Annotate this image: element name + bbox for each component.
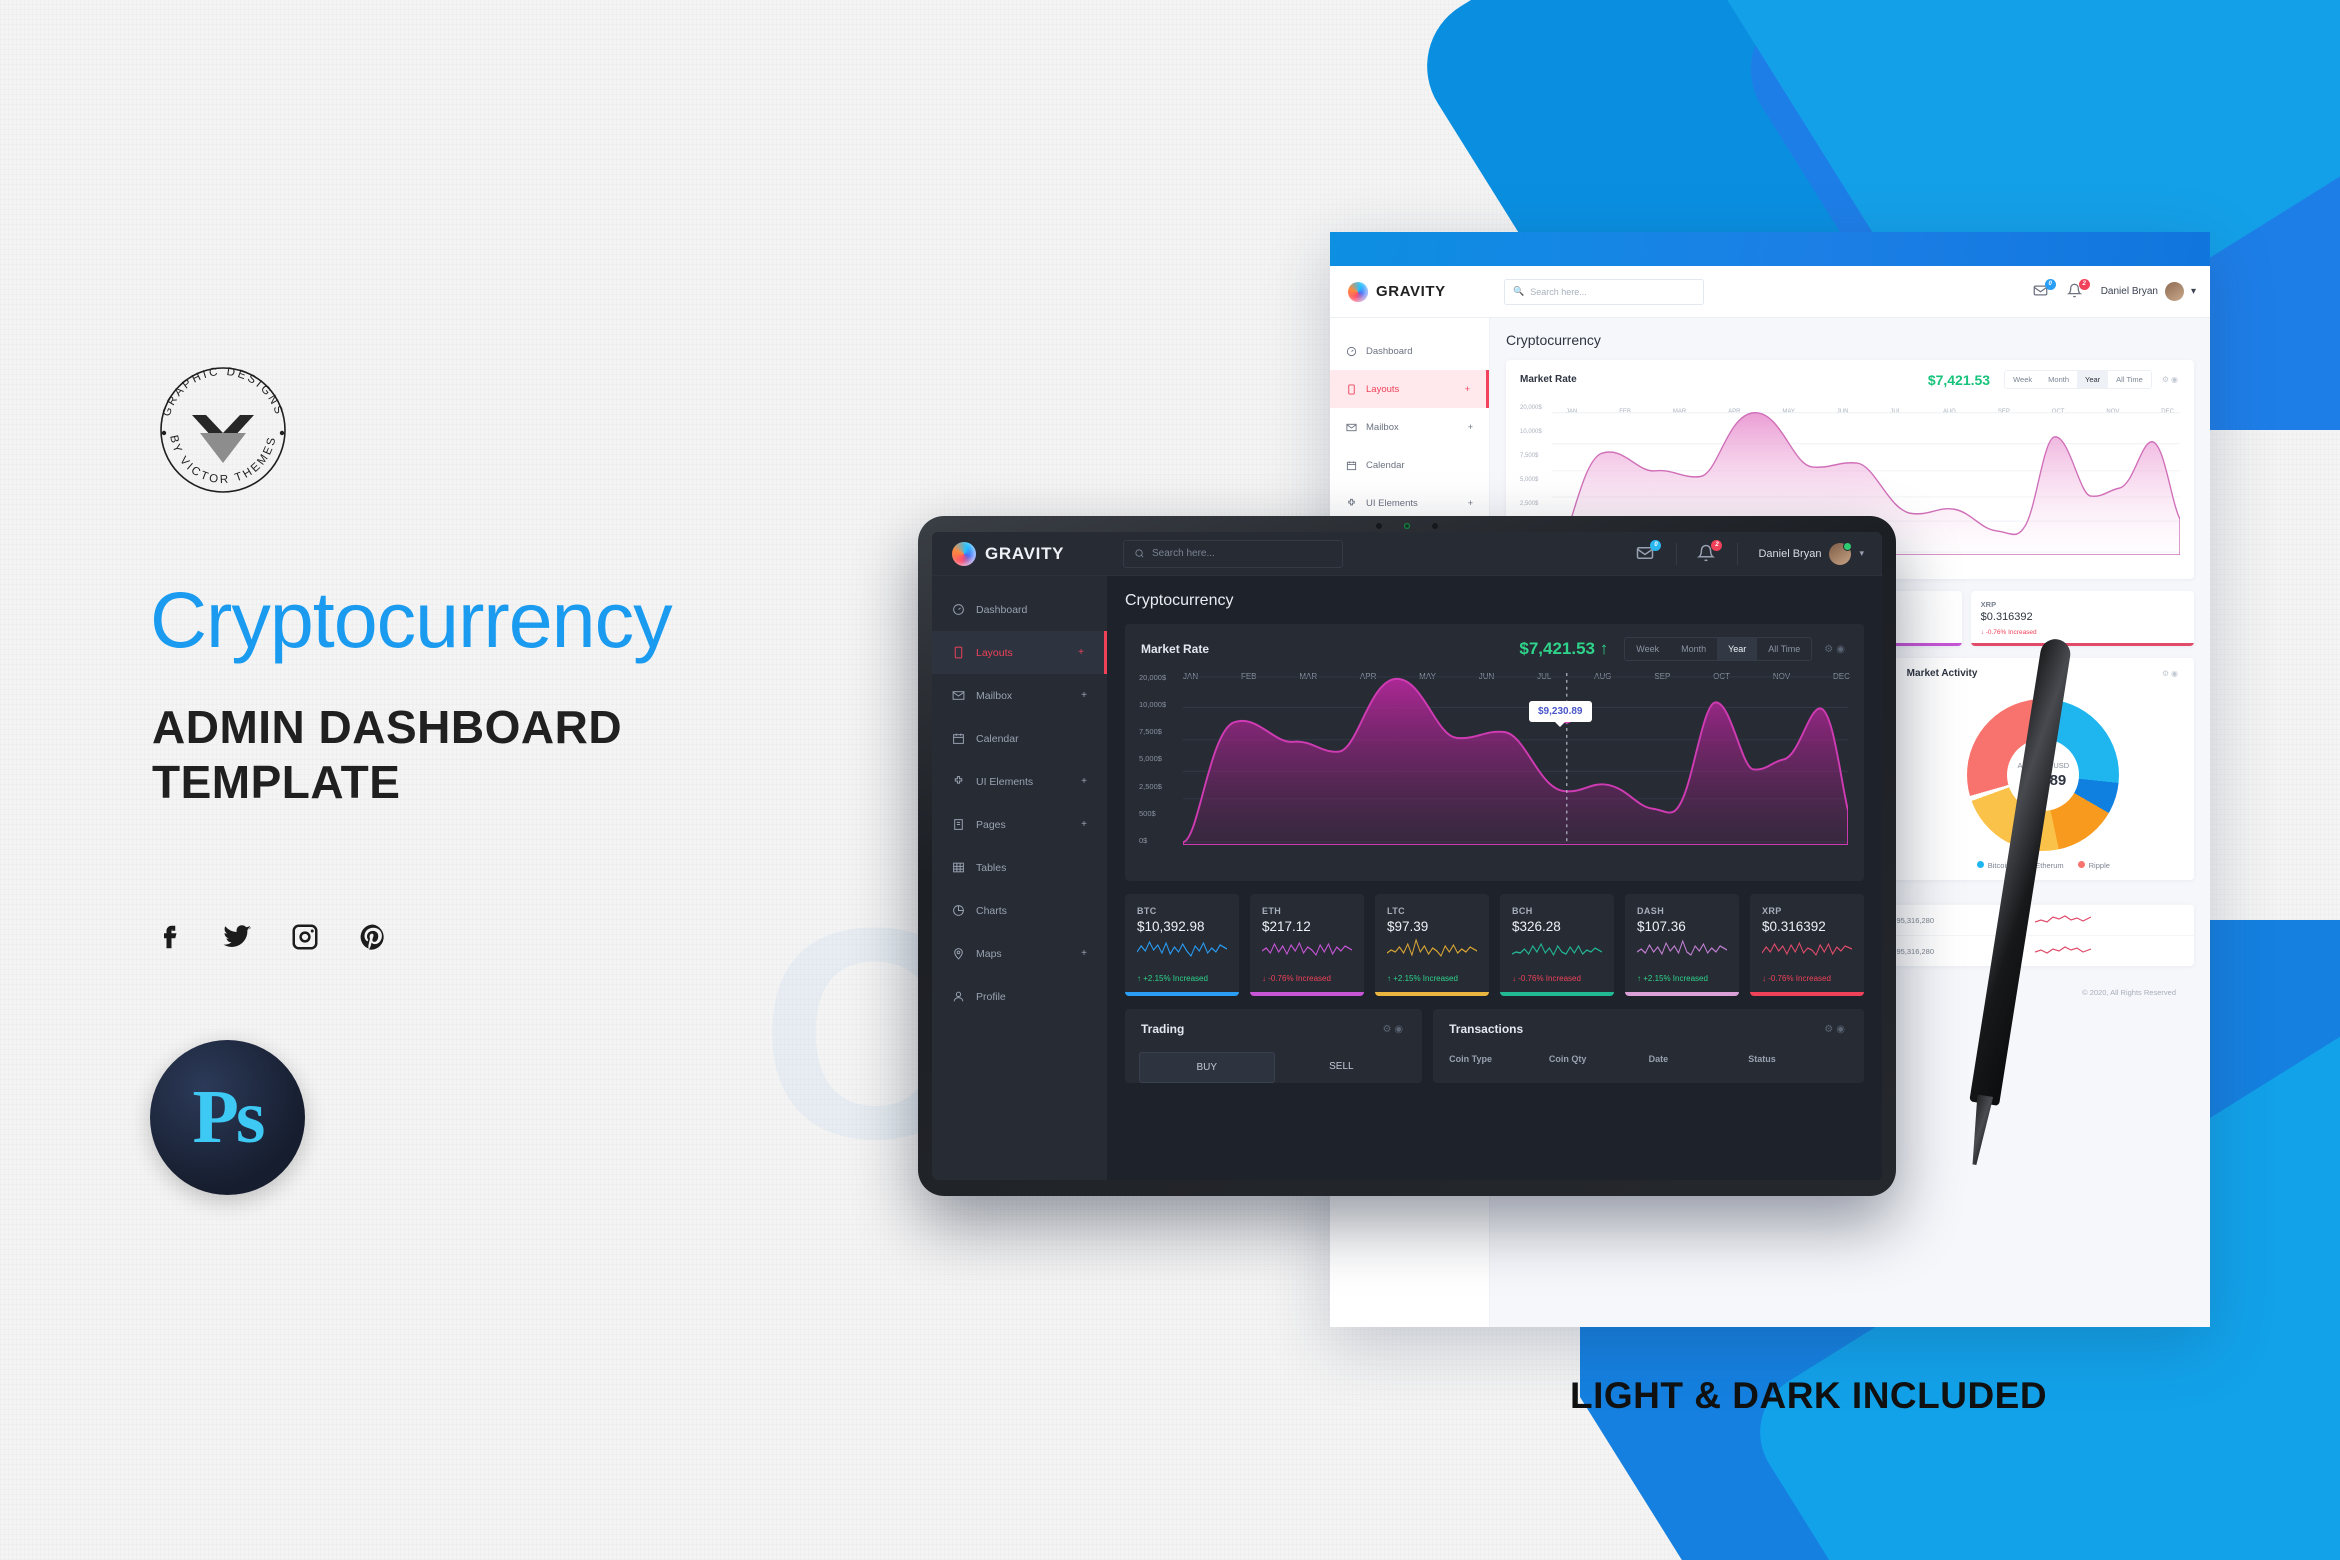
sidebar-item-label: Maps: [976, 948, 1002, 960]
expand-icon: +: [1081, 948, 1087, 959]
sidebar-item-tables[interactable]: Tables: [932, 846, 1107, 889]
coin-change: ↓ -0.76% Increased: [1762, 974, 1852, 983]
card-actions-icon[interactable]: ⚙◉: [1382, 1024, 1406, 1035]
cell-sparkline: [2025, 936, 2194, 967]
coin-accent-bar: [1971, 643, 2194, 646]
sell-tab[interactable]: SELL: [1275, 1052, 1409, 1083]
transactions-card: Transactions ⚙◉ Coin Type Coin Qty Date …: [1433, 1009, 1864, 1083]
brand-label: GRAVITY: [1376, 283, 1446, 300]
y-tick: 2,500$: [1520, 501, 1542, 507]
instagram-icon[interactable]: [288, 920, 322, 954]
sidebar-item-dashboard[interactable]: Dashboard: [1330, 332, 1489, 370]
coin-symbol: XRP: [1762, 906, 1852, 916]
coin-sparkline: [1137, 934, 1227, 960]
coin-cards: BTC $10,392.98 ↑ +2.15% Increased ETH $2…: [1125, 894, 1864, 996]
y-tick: 0$: [1139, 836, 1166, 845]
y-tick: 5,000$: [1139, 754, 1166, 763]
coin-price: $107.36: [1637, 919, 1727, 934]
coin-price: $97.39: [1387, 919, 1477, 934]
coin-sparkline: [1762, 934, 1852, 960]
bell-badge: 2: [2079, 279, 2090, 290]
dark-area-series: [1183, 673, 1848, 845]
sidebar-item-ui-elements[interactable]: UI Elements +: [932, 760, 1107, 803]
dark-user-zone: 0 2 Daniel Bryan ▾: [1636, 543, 1882, 565]
coin-sparkline: [1512, 934, 1602, 960]
coin-card-bch[interactable]: BCH $326.28 ↓ -0.76% Increased: [1500, 894, 1614, 996]
sidebar-item-maps[interactable]: Maps +: [932, 932, 1107, 975]
transactions-title: Transactions: [1449, 1022, 1523, 1036]
transactions-header: Transactions ⚙◉: [1433, 1009, 1864, 1044]
tablet-camera-row: [918, 523, 1896, 529]
coin-card-ltc[interactable]: LTC $97.39 ↑ +2.15% Increased: [1375, 894, 1489, 996]
subtitle-line-2: TEMPLATE: [152, 755, 622, 810]
y-tick: 2,500$: [1139, 782, 1166, 791]
subtitle-line-1: ADMIN DASHBOARD: [152, 700, 622, 755]
light-market-value: $7,421.53: [1928, 372, 1990, 388]
y-tick: 20,000$: [1520, 405, 1542, 411]
activity-title: Market Activity: [1907, 668, 1978, 679]
gravity-logo-icon: [952, 542, 976, 566]
mail-icon[interactable]: 0: [1636, 544, 1656, 564]
expand-icon: +: [1081, 690, 1087, 701]
buy-tab[interactable]: BUY: [1139, 1052, 1275, 1083]
col-date: Date: [1649, 1054, 1749, 1064]
dark-dashboard: GRAVITY Search here... 0 2 Daniel Bryan: [932, 532, 1882, 1180]
dark-sidebar: Dashboard Layouts + Mailbox + Calendar U…: [932, 576, 1107, 1180]
bell-badge: 2: [1711, 540, 1722, 551]
coin-change: ↓ -0.76% Increased: [1262, 974, 1352, 983]
page-title: Cryptocurrency: [150, 580, 672, 659]
sidebar-item-charts[interactable]: Charts: [932, 889, 1107, 932]
coin-change: ↓ -0.76% Increased: [1512, 974, 1602, 983]
tablet-device: GRAVITY Search here... 0 2 Daniel Bryan: [918, 516, 1896, 1196]
coin-accent-bar: [1500, 992, 1614, 996]
sidebar-item-label: Profile: [976, 991, 1006, 1003]
range-tabs: Week Month Year All Time: [1624, 637, 1812, 661]
range-all-time[interactable]: All Time: [2108, 371, 2151, 388]
coin-sparkline: [1637, 934, 1727, 960]
range-month[interactable]: Month: [2040, 371, 2077, 388]
expand-icon: +: [1081, 819, 1087, 830]
sidebar-item-mailbox[interactable]: Mailbox +: [932, 674, 1107, 717]
coin-accent-bar: [1375, 992, 1489, 996]
sidebar-item-label: Pages: [976, 819, 1006, 831]
sidebar-item-label: Layouts: [976, 647, 1013, 659]
trend-up-icon: ↑: [1600, 639, 1609, 658]
coin-symbol: XRP: [1981, 600, 2184, 609]
coin-sparkline: [1262, 934, 1352, 960]
mail-badge: 0: [2045, 279, 2056, 290]
buy-sell-tabs: BUY SELL: [1139, 1052, 1408, 1083]
sidebar-item-pages[interactable]: Pages +: [932, 803, 1107, 846]
gravity-logo-icon: [1348, 282, 1368, 302]
social-links: [152, 920, 390, 954]
y-tick: 10,000$: [1520, 429, 1542, 435]
light-search-input[interactable]: 🔍 Search here...: [1504, 279, 1704, 305]
coin-price: $0.316392: [1981, 611, 2184, 623]
chevron-down-icon: ▾: [1859, 548, 1864, 559]
dark-low-row: Trading ⚙◉ BUY SELL Transactions ⚙◉ Coin…: [1125, 1009, 1864, 1083]
dark-body: Dashboard Layouts + Mailbox + Calendar U…: [932, 576, 1882, 1180]
sidebar-item-label: Calendar: [1366, 460, 1405, 471]
sidebar-item-label: Tables: [976, 862, 1006, 874]
coin-change: ↓ -0.76% Increased: [1981, 629, 2184, 636]
y-tick: 7,500$: [1520, 453, 1542, 459]
card-actions-icon[interactable]: ⚙◉: [1824, 1024, 1848, 1035]
range-year[interactable]: Year: [2077, 371, 2108, 388]
expand-icon: +: [1081, 776, 1087, 787]
coin-symbol: ETH: [1262, 906, 1352, 916]
expand-icon: +: [1468, 498, 1473, 508]
y-tick: 10,000$: [1139, 700, 1166, 709]
market-header: Market Rate $7,421.53 ↑ Week Month Year …: [1125, 624, 1864, 669]
trading-title: Trading: [1141, 1022, 1184, 1036]
coin-symbol: BTC: [1137, 906, 1227, 916]
trading-header: Trading ⚙◉: [1125, 1009, 1422, 1044]
sidebar-item-label: Dashboard: [976, 604, 1027, 616]
user-menu[interactable]: Daniel Bryan ▾: [1758, 543, 1864, 565]
market-value-text: $7,421.53: [1519, 639, 1595, 658]
y-tick: 500$: [1139, 809, 1166, 818]
market-chart: 20,000$ 10,000$ 7,500$ 5,000$ 2,500$ 500…: [1125, 669, 1864, 881]
coin-change: ↑ +2.15% Increased: [1387, 974, 1477, 983]
cell-sparkline: [2025, 905, 2194, 936]
light-bell-icon[interactable]: 2: [2067, 283, 2085, 301]
market-value: $7,421.53 ↑: [1519, 639, 1608, 659]
divider: [1737, 543, 1738, 565]
light-user-zone: 0 2 Daniel Bryan ▾: [2033, 282, 2210, 301]
card-actions-icon[interactable]: ⚙◉: [2162, 669, 2180, 678]
pen-tip: [1967, 1094, 1994, 1166]
sidebar-item-layouts[interactable]: Layouts +: [932, 631, 1107, 674]
sidebar-item-label: UI Elements: [1366, 498, 1418, 509]
coin-price: $217.12: [1262, 919, 1352, 934]
twitter-icon[interactable]: [220, 920, 254, 954]
card-actions-icon[interactable]: ⚙◉: [2162, 375, 2180, 384]
tagline: LIGHT & DARK INCLUDED: [1570, 1375, 2047, 1417]
sidebar-item-label: Dashboard: [1366, 346, 1412, 357]
chart-tooltip: $9,230.89: [1529, 701, 1592, 722]
light-market-header: Market Rate $7,421.53 Week Month Year Al…: [1506, 360, 2194, 399]
dark-topbar: GRAVITY Search here... 0 2 Daniel Bryan: [932, 532, 1882, 576]
bell-icon[interactable]: 2: [1697, 544, 1717, 564]
sidebar-item-calendar[interactable]: Calendar: [1330, 446, 1489, 484]
coin-card-dash[interactable]: DASH $107.36 ↑ +2.15% Increased: [1625, 894, 1739, 996]
sidebar-item-mailbox[interactable]: Mailbox +: [1330, 408, 1489, 446]
coin-price: $326.28: [1512, 919, 1602, 934]
range-week[interactable]: Week: [2005, 371, 2040, 388]
sidebar-item-label: UI Elements: [976, 776, 1033, 788]
legend-ripple: Ripple: [2078, 861, 2110, 870]
range-week[interactable]: Week: [1625, 638, 1670, 660]
sidebar-item-label: Mailbox: [1366, 422, 1399, 433]
photoshop-badge: Ps: [150, 1040, 305, 1195]
chevron-down-icon: ▾: [2191, 286, 2196, 297]
dark-brand[interactable]: GRAVITY: [932, 542, 1107, 566]
coin-accent-bar: [1250, 992, 1364, 996]
avatar: [2165, 282, 2184, 301]
coin-symbol: DASH: [1637, 906, 1727, 916]
coin-card-xrp[interactable]: XRP $0.316392 ↓ -0.76% Increased: [1750, 894, 1864, 996]
coin-card-xrp[interactable]: XRP $0.316392 ↓ -0.76% Increased: [1971, 591, 2194, 646]
expand-icon: +: [1465, 384, 1470, 394]
divider: [1676, 543, 1677, 565]
trading-card: Trading ⚙◉ BUY SELL: [1125, 1009, 1422, 1083]
y-axis: 20,000$ 10,000$ 7,500$ 5,000$ 2,500$ 500…: [1139, 673, 1166, 845]
page-subtitle: ADMIN DASHBOARD TEMPLATE: [152, 700, 622, 810]
coin-accent-bar: [1125, 992, 1239, 996]
expand-icon: +: [1078, 647, 1084, 658]
coin-change: ↑ +2.15% Increased: [1637, 974, 1727, 983]
y-tick: 20,000$: [1139, 673, 1166, 682]
search-placeholder: Search here...: [1530, 287, 1587, 297]
brand-label: GRAVITY: [985, 544, 1064, 564]
coin-accent-bar: [1625, 992, 1739, 996]
search-placeholder: Search here...: [1152, 548, 1215, 559]
transactions-columns: Coin Type Coin Qty Date Status: [1433, 1044, 1864, 1064]
coin-accent-bar: [1750, 992, 1864, 996]
light-top-strip: [1330, 232, 2210, 266]
sidebar-item-label: Charts: [976, 905, 1007, 917]
light-topbar: GRAVITY 🔍 Search here... 0 2 Daniel Brya…: [1330, 266, 2210, 318]
sidebar-item-layouts[interactable]: Layouts +: [1330, 370, 1489, 408]
col-status: Status: [1748, 1054, 1848, 1064]
sidebar-item-label: Calendar: [976, 733, 1019, 745]
sidebar-item-calendar[interactable]: Calendar: [932, 717, 1107, 760]
col-coin-qty: Coin Qty: [1549, 1054, 1649, 1064]
sidebar-item-label: Mailbox: [976, 690, 1012, 702]
light-brand[interactable]: GRAVITY: [1330, 282, 1490, 302]
light-page-title: Cryptocurrency: [1506, 332, 2194, 348]
sidebar-item-profile[interactable]: Profile: [932, 975, 1107, 1018]
pinterest-icon[interactable]: [356, 920, 390, 954]
range-month[interactable]: Month: [1670, 638, 1717, 660]
facebook-icon[interactable]: [152, 920, 186, 954]
coin-sparkline: [1387, 934, 1477, 960]
card-actions-icon[interactable]: ⚙◉: [1824, 644, 1848, 655]
coin-symbol: BCH: [1512, 906, 1602, 916]
range-all-time[interactable]: All Time: [1757, 638, 1811, 660]
sidebar-item-dashboard[interactable]: Dashboard: [932, 588, 1107, 631]
coin-card-eth[interactable]: ETH $217.12 ↓ -0.76% Increased: [1250, 894, 1364, 996]
coin-price: $10,392.98: [1137, 919, 1227, 934]
market-title: Market Rate: [1141, 642, 1209, 656]
market-rate-card: Market Rate $7,421.53 ↑ Week Month Year …: [1125, 624, 1864, 881]
light-user-menu[interactable]: Daniel Bryan ▾: [2101, 282, 2196, 301]
user-name: Daniel Bryan: [1758, 548, 1821, 560]
dark-page-title: Cryptocurrency: [1125, 592, 1864, 610]
victor-themes-badge: GRAPHIC DESIGNS BY VICTOR THEMES: [148, 355, 298, 505]
avatar: [1829, 543, 1851, 565]
range-year[interactable]: Year: [1717, 638, 1757, 660]
search-input[interactable]: Search here...: [1123, 540, 1343, 568]
mail-badge: 0: [1650, 540, 1661, 551]
light-mail-icon[interactable]: 0: [2033, 283, 2051, 301]
y-tick: 7,500$: [1139, 727, 1166, 736]
photoshop-label: Ps: [193, 1074, 263, 1161]
coin-card-btc[interactable]: BTC $10,392.98 ↑ +2.15% Increased: [1125, 894, 1239, 996]
light-range-tabs: Week Month Year All Time: [2004, 370, 2152, 389]
coin-change: ↑ +2.15% Increased: [1137, 974, 1227, 983]
sidebar-item-label: Layouts: [1366, 384, 1399, 395]
dark-main: Cryptocurrency Market Rate $7,421.53 ↑ W…: [1107, 576, 1882, 1180]
light-user-name: Daniel Bryan: [2101, 286, 2158, 297]
coin-price: $0.316392: [1762, 919, 1852, 934]
badge-seal-icon: GRAPHIC DESIGNS BY VICTOR THEMES: [148, 355, 298, 505]
y-tick: 5,000$: [1520, 477, 1542, 483]
light-market-title: Market Rate: [1520, 374, 1577, 385]
svg-text:GRAPHIC DESIGNS: GRAPHIC DESIGNS: [161, 366, 285, 418]
col-coin-type: Coin Type: [1449, 1054, 1549, 1064]
search-icon: 🔍: [1513, 286, 1524, 297]
coin-symbol: LTC: [1387, 906, 1477, 916]
expand-icon: +: [1468, 422, 1473, 432]
